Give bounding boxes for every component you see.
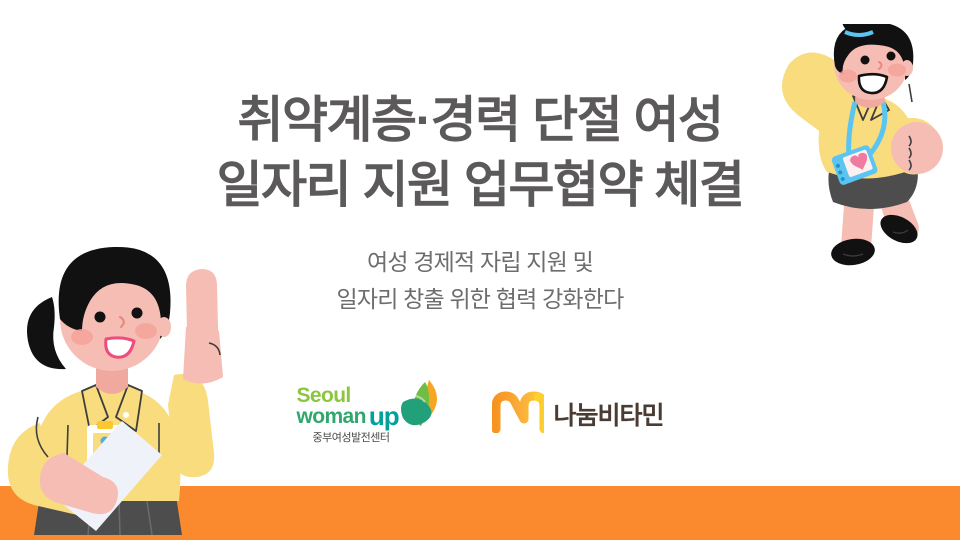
swu-korean-name: 중부여성발전센터	[312, 429, 389, 445]
leaf-butterfly-icon	[399, 378, 439, 431]
swu-word-up: up	[369, 406, 399, 427]
nn-monogram-icon	[492, 391, 544, 438]
fist-hand	[891, 122, 943, 174]
eye-right	[132, 308, 143, 319]
poster-canvas: 취약계층·경력 단절 여성 일자리 지원 업무협약 체결 여성 경제적 자립 지…	[0, 0, 960, 540]
eye-left	[95, 312, 106, 323]
swu-wordmark: Seoul woman up	[296, 386, 398, 427]
nbv-korean-name: 나눔비타민	[553, 396, 663, 432]
swu-word-woman: woman	[296, 407, 365, 427]
logo-seoul-woman-up[interactable]: Seoul woman up 중부여성발전센터	[296, 382, 446, 446]
eye-right	[887, 52, 896, 61]
illustration-woman-waving-right	[749, 24, 960, 279]
eye-left	[861, 56, 870, 65]
logo-row: Seoul woman up 중부여성발전센터	[0, 382, 960, 446]
logo-nanum-vitamin[interactable]: 나눔비타민	[492, 391, 663, 437]
